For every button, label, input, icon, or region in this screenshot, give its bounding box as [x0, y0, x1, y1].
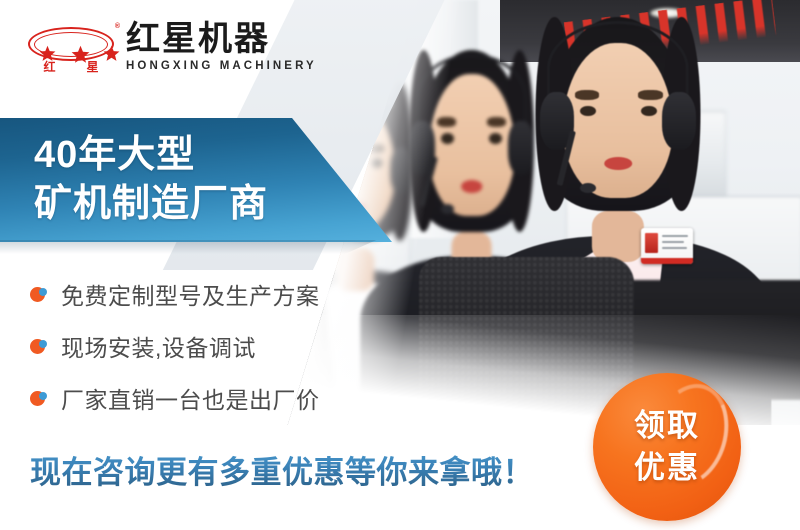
office-chair [419, 257, 634, 425]
list-item: 免费定制型号及生产方案 [30, 268, 370, 320]
agent-id-badge [641, 228, 693, 264]
list-item: 厂家直销一台也是出厂价 [30, 372, 370, 424]
brand-wordmark: 红星机器 HONGXING MACHINERY [126, 20, 317, 73]
cta-label: 领取 优惠 [593, 373, 741, 521]
bullet-marker-icon [30, 390, 47, 407]
list-item-label: 厂家直销一台也是出厂价 [61, 381, 320, 415]
headline-text: 40年大型 矿机制造厂商 [34, 131, 364, 229]
brand-name-en: HONGXING MACHINERY [126, 59, 317, 73]
cta-label-line-2: 优惠 [634, 447, 700, 489]
brand-logo[interactable]: ® 红 星 红星机器 HONGXING MACHINERY [26, 20, 276, 78]
headline-line-2: 矿机制造厂商 [34, 180, 364, 229]
emblem-char-left: 红 [43, 61, 55, 73]
cta-label-line-1: 领取 [634, 405, 700, 447]
hongxing-star-emblem-icon: ® 红 星 [26, 22, 118, 76]
registered-trademark-icon: ® [115, 23, 120, 30]
feature-list: 免费定制型号及生产方案 现场安装,设备调试 厂家直销一台也是出厂价 [30, 268, 370, 424]
headline-line-1: 40年大型 [34, 131, 364, 180]
three-stars-icon [39, 35, 103, 54]
list-item: 现场安装,设备调试 [30, 320, 370, 372]
list-item-label: 现场安装,设备调试 [61, 329, 256, 363]
emblem-subtext: 红 星 [28, 61, 114, 73]
promo-slogan: 现在咨询更有多重优惠等你来拿哦！ [30, 447, 534, 492]
list-item-label: 免费定制型号及生产方案 [61, 277, 320, 311]
brand-name-cn: 红星机器 [126, 20, 317, 58]
emblem-char-right: 星 [86, 61, 98, 73]
bullet-marker-icon [30, 286, 47, 303]
bullet-marker-icon [30, 338, 47, 355]
claim-discount-button[interactable]: 领取 优惠 [593, 373, 741, 521]
promo-banner: 40年大型 矿机制造厂商 ® 红 星 红星机器 HONGXING MACHINE… [0, 0, 800, 530]
